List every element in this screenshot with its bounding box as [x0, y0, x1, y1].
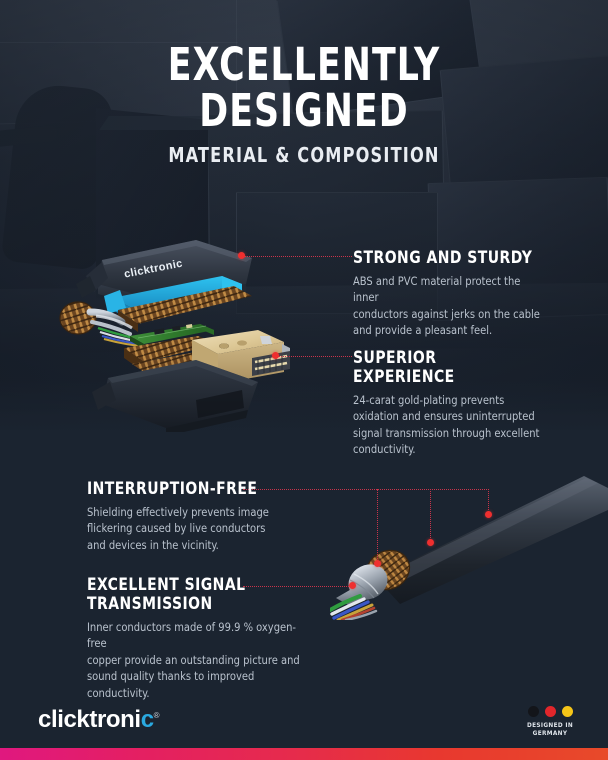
bottom-gradient-bar — [0, 748, 608, 760]
marker-dot-gold-connector — [272, 352, 279, 359]
callout-body-line: copper provide an outstanding picture an… — [87, 652, 310, 668]
callout-interruption-free: INTERRUPTION-FREE Shielding effectively … — [87, 479, 302, 553]
callout-title: INTERRUPTION-FREE — [87, 479, 289, 498]
infographic-page: EXCELLENTLY DESIGNED MATERIAL & COMPOSIT… — [0, 0, 608, 760]
cable-svg — [330, 470, 608, 620]
brand-logo-accent-letter: c — [141, 706, 154, 733]
callout-body-line: conductors against jerks on the cable — [353, 306, 547, 322]
callout-body: 24-carat gold-plating prevents oxidation… — [353, 392, 547, 458]
callout-body-line: signal transmission through excellent — [353, 425, 547, 441]
callout-body-line: 24-carat gold-plating prevents — [353, 392, 547, 408]
registered-trademark-icon: ® — [154, 711, 160, 720]
callout-body: Inner conductors made of 99.9 % oxygen-f… — [87, 619, 310, 701]
callout-body-line: flickering caused by live conductors — [87, 520, 296, 536]
callout-superior-experience: SUPERIOR EXPERIENCE 24-carat gold-platin… — [353, 348, 553, 458]
leader-branch-braid — [430, 489, 431, 542]
marker-dot-braid — [427, 539, 434, 546]
callout-body-line: oxidation and ensures uninterrupted — [353, 408, 547, 424]
callout-body: ABS and PVC material protect the inner c… — [353, 273, 547, 339]
brand-logo: clicktronic® — [38, 706, 159, 734]
german-flag-dots — [519, 706, 581, 717]
connector-svg: clicktronic — [46, 232, 346, 432]
callout-strong-and-sturdy: STRONG AND STURDY ABS and PVC material p… — [353, 248, 553, 339]
marker-dot-jacket — [485, 511, 492, 518]
callout-body-line: Inner conductors made of 99.9 % oxygen-f… — [87, 619, 310, 652]
callout-title: SUPERIOR EXPERIENCE — [353, 348, 541, 386]
leader-line-superior — [278, 356, 352, 357]
callout-body-line: ABS and PVC material protect the inner — [353, 273, 547, 306]
callout-title-line-1: EXCELLENT SIGNAL — [87, 575, 303, 594]
flag-dot-black-icon — [528, 706, 539, 717]
callout-body-line: Shielding effectively prevents image — [87, 504, 296, 520]
badge-line-1: DESIGNED IN — [519, 721, 581, 729]
callout-body-line: and provide a pleasant feel. — [353, 322, 547, 338]
cable-cutaway-illustration — [330, 470, 608, 620]
marker-dot-inner-conductors — [349, 582, 356, 589]
flag-dot-red-icon — [545, 706, 556, 717]
callout-body-line: conductivity. — [353, 441, 547, 457]
callout-title: STRONG AND STURDY — [353, 248, 541, 267]
brand-logo-text: clicktroni — [38, 706, 141, 733]
leader-line-strong — [244, 256, 352, 257]
marker-dot-top-shell — [238, 252, 245, 259]
leader-branch-foil — [377, 489, 378, 563]
cable-outer-jacket — [376, 476, 608, 604]
marker-dot-foil — [374, 560, 381, 567]
headline-line-1: EXCELLENTLY — [43, 42, 566, 88]
cable-inner-conductors — [330, 596, 376, 620]
flag-dot-gold-icon — [562, 706, 573, 717]
headline-line-2: DESIGNED — [43, 88, 566, 134]
callout-body: Shielding effectively prevents image fli… — [87, 504, 296, 553]
page-header: EXCELLENTLY DESIGNED MATERIAL & COMPOSIT… — [0, 42, 608, 167]
exploded-connector-illustration: clicktronic — [46, 232, 346, 432]
callout-body-line: and devices in the vicinity. — [87, 537, 296, 553]
designed-in-germany-badge: DESIGNED IN GERMANY — [519, 706, 581, 738]
callout-title-line-2: TRANSMISSION — [87, 594, 303, 613]
headline-subtitle: MATERIAL & COMPOSITION — [30, 143, 577, 167]
callout-excellent-signal-transmission: EXCELLENT SIGNAL TRANSMISSION Inner cond… — [87, 575, 317, 701]
badge-line-2: GERMANY — [519, 729, 581, 737]
